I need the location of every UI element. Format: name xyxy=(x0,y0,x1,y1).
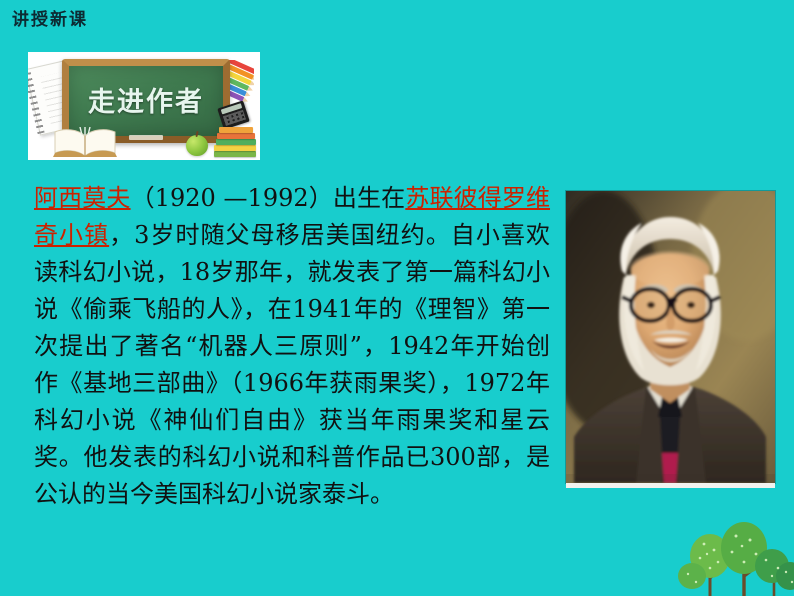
life-dates-text: （1920 —1992）出生在 xyxy=(131,184,406,212)
photo-bottom-edge xyxy=(566,483,775,488)
author-portrait-photo xyxy=(566,191,775,483)
author-biography-paragraph: 阿西莫夫（1920 —1992）出生在苏联彼得罗维奇小镇，3岁时随父母移居美国纽… xyxy=(34,180,550,513)
trees-icon xyxy=(674,512,794,596)
title-card-board-text: 走进作者 xyxy=(69,66,223,136)
slide-section-title: 讲授新课 xyxy=(12,8,88,32)
author-name-highlight: 阿西莫夫 xyxy=(34,184,131,212)
apple-icon xyxy=(186,135,208,156)
book-stack-icon xyxy=(214,121,258,157)
title-card: 走进作者 xyxy=(28,52,260,160)
open-book-icon xyxy=(52,127,118,157)
chalk-tray xyxy=(129,135,163,140)
biography-rest-text: ，3岁时随父母移居美国纽约。自小喜欢读科幻小说，18岁那年，就发表了第一篇科幻小… xyxy=(34,221,550,508)
